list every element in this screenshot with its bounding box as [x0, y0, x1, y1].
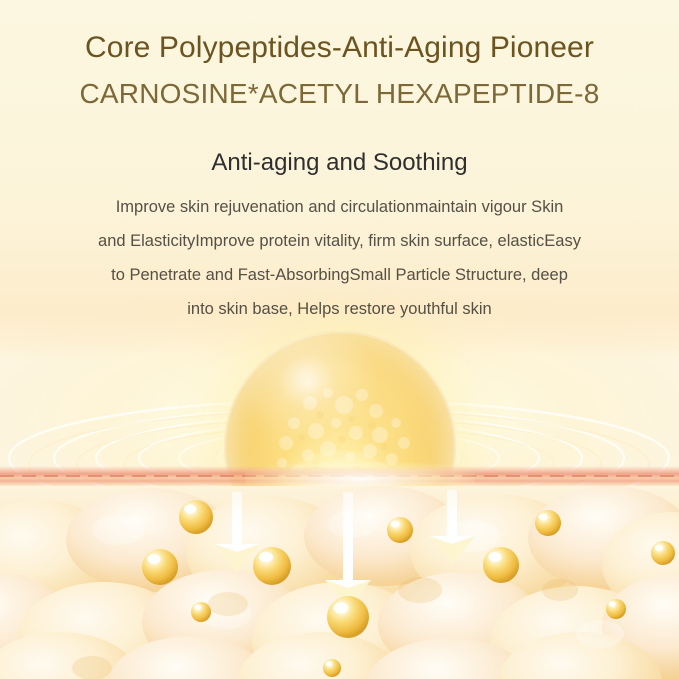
text-block: Core Polypeptides-Anti-Aging Pioneer CAR…: [0, 0, 679, 326]
benefit-headline: Anti-aging and Soothing: [0, 148, 679, 178]
description-line: to Penetrate and Fast-AbsorbingSmall Par…: [55, 258, 625, 292]
description-line: Improve skin rejuvenation and circulatio…: [55, 190, 625, 224]
description-line: and ElasticityImprove protein vitality, …: [55, 224, 625, 258]
description-line: into skin base, Helps restore youthful s…: [55, 292, 625, 326]
product-infographic-poster: Core Polypeptides-Anti-Aging Pioneer CAR…: [0, 0, 679, 679]
ingredient-subtitle: CARNOSINE*ACETYL HEXAPEPTIDE-8: [0, 74, 679, 114]
page-title: Core Polypeptides-Anti-Aging Pioneer: [0, 28, 679, 68]
skin-cell-layer: [0, 486, 679, 679]
benefit-description: Improve skin rejuvenation and circulatio…: [55, 190, 625, 326]
